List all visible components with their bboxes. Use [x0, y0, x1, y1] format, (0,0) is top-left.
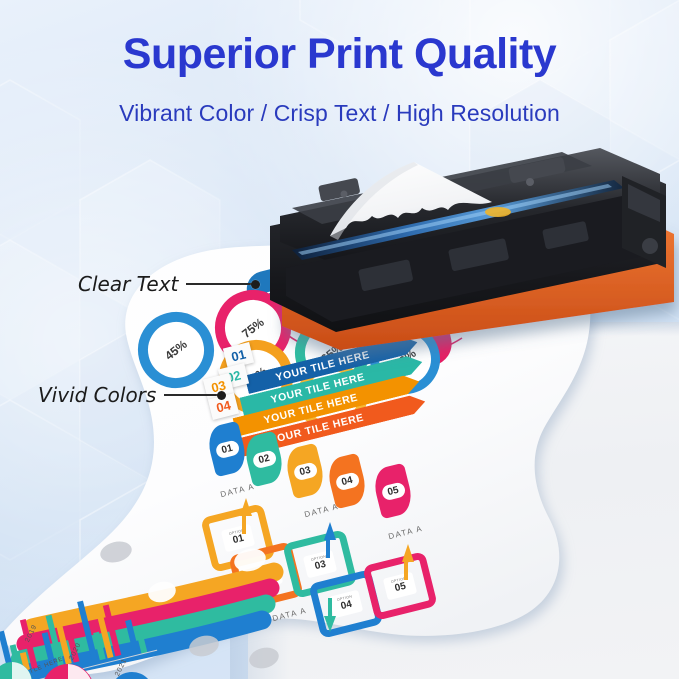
callout-label: Vivid Colors	[38, 383, 156, 407]
callout-leader-line	[186, 283, 252, 285]
pie-charts	[0, 638, 172, 679]
callout-vivid-colors: Vivid Colors	[38, 383, 226, 407]
percent-ring-value: 45%	[162, 337, 190, 363]
page-subtitle: Vibrant Color / Crisp Text / High Resolu…	[0, 100, 679, 127]
toner-cartridge	[262, 150, 679, 350]
callout-dot	[251, 280, 260, 289]
leaf-step-number: 03	[292, 461, 318, 481]
tile-banner-number-text: 01	[230, 346, 248, 364]
callout-leader-line	[164, 394, 218, 396]
product-feature-image: Superior Print Quality Vibrant Color / C…	[0, 0, 679, 679]
callout-dot	[217, 391, 226, 400]
callout-label: Clear Text	[78, 272, 178, 296]
page-title: Superior Print Quality	[0, 30, 679, 79]
leaf-step-number: 02	[251, 449, 277, 469]
callout-clear-text: Clear Text	[78, 272, 260, 296]
leaf-step-number: 01	[214, 439, 240, 459]
